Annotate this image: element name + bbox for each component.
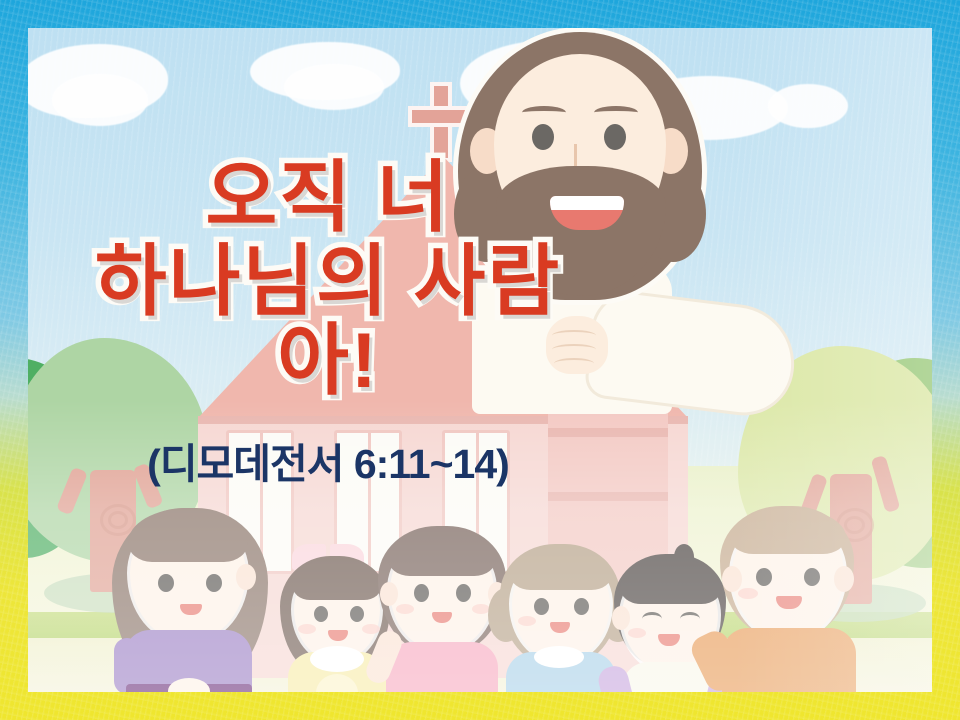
boy-ear-left xyxy=(612,606,630,630)
cloud-top-left-b xyxy=(52,74,148,126)
illustration-scene: 오직 너 하나님의 사람아! (디모데전서 6:11~14) xyxy=(28,28,932,692)
poster-canvas: 오직 너 하나님의 사람아! (디모데전서 6:11~14) xyxy=(0,0,960,720)
adult-ear-left xyxy=(722,566,742,592)
jesus-eye-right xyxy=(604,124,626,150)
girl2-eye-right xyxy=(350,606,364,622)
church-side-beam-3 xyxy=(548,492,668,501)
jesus-eye-left xyxy=(532,124,554,150)
adult-orange-sweater xyxy=(704,500,872,692)
girl3-ear-left xyxy=(380,582,398,606)
jesus-eyebrow-right xyxy=(594,106,638,119)
girl4-eye-left xyxy=(534,598,549,615)
jesus-teeth xyxy=(550,196,624,210)
jesus-figure xyxy=(448,28,778,436)
girl4-collar xyxy=(534,646,584,668)
adult-ear-right xyxy=(834,566,854,592)
jesus-eyebrow-left xyxy=(522,106,566,119)
adult-blush-left xyxy=(738,588,758,599)
girl1-eye-right xyxy=(206,574,222,592)
girl2-eye-left xyxy=(314,606,328,622)
girl2-collar xyxy=(310,646,364,672)
girl4-eye-right xyxy=(574,598,589,615)
girl1-ear-right xyxy=(236,564,256,590)
girl4-blush-left xyxy=(518,616,536,626)
cloud-top-right-tiny xyxy=(768,84,848,128)
jesus-finger-3 xyxy=(554,358,594,369)
adult-eye-left xyxy=(756,568,772,586)
adult-sweater xyxy=(722,628,856,692)
girl3-blush-left xyxy=(396,604,414,614)
jesus-finger-1 xyxy=(552,330,596,341)
girl1-eye-left xyxy=(158,574,174,592)
girl-long-brown-hair xyxy=(106,498,276,692)
boy-eye-right xyxy=(680,612,700,626)
girl3-eye-left xyxy=(414,584,429,602)
adult-eye-right xyxy=(804,568,820,586)
girl3-top xyxy=(386,642,498,692)
boy-blush-left xyxy=(628,628,646,638)
jesus-finger-2 xyxy=(552,344,596,355)
girl3-eye-right xyxy=(456,584,471,602)
boy-eye-left xyxy=(642,612,662,626)
girl2-blush-left xyxy=(298,624,316,634)
